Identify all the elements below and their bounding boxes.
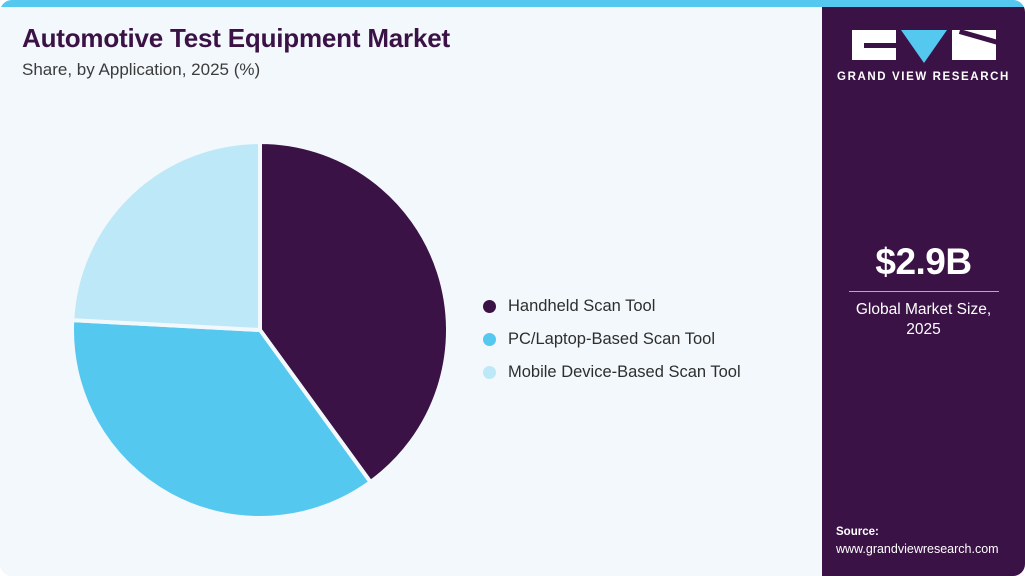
legend-swatch-icon	[483, 366, 496, 379]
pie-slice[interactable]	[72, 142, 260, 330]
top-accent-bar	[0, 0, 1025, 7]
chart-legend: Handheld Scan Tool PC/Laptop-Based Scan …	[483, 290, 813, 389]
legend-item-mobile-device-based-scan-tool[interactable]: Mobile Device-Based Scan Tool	[483, 356, 813, 389]
stat-value: $2.9B	[822, 243, 1025, 282]
legend-swatch-icon	[483, 300, 496, 313]
infographic-card: Automotive Test Equipment Market Share, …	[0, 0, 1025, 576]
brand-sidebar: GRAND VIEW RESEARCH $2.9B Global Market …	[822, 7, 1025, 576]
legend-item-pc-laptop-based-scan-tool[interactable]: PC/Laptop-Based Scan Tool	[483, 323, 813, 356]
logo-marks	[822, 30, 1025, 62]
legend-item-label: Mobile Device-Based Scan Tool	[508, 363, 741, 382]
source-label: Source:	[836, 524, 1025, 540]
brand-logo: GRAND VIEW RESEARCH	[822, 30, 1025, 83]
page-title: Automotive Test Equipment Market	[22, 24, 450, 53]
pie-chart	[71, 141, 449, 519]
legend-item-handheld-scan-tool[interactable]: Handheld Scan Tool	[483, 290, 813, 323]
page-subtitle: Share, by Application, 2025 (%)	[22, 60, 450, 80]
stat-caption: Global Market Size, 2025	[822, 300, 1025, 340]
legend-item-label: Handheld Scan Tool	[508, 297, 655, 316]
source-url[interactable]: www.grandviewresearch.com	[836, 541, 1025, 559]
market-size-stat: $2.9B Global Market Size, 2025	[822, 243, 1025, 340]
title-block: Automotive Test Equipment Market Share, …	[22, 24, 450, 80]
legend-swatch-icon	[483, 333, 496, 346]
pie-chart-svg	[71, 141, 449, 519]
source-block: Source: www.grandviewresearch.com	[836, 524, 1025, 558]
pie-slice-group	[72, 142, 448, 518]
legend-item-label: PC/Laptop-Based Scan Tool	[508, 330, 715, 349]
logo-letter-g-icon	[852, 30, 896, 60]
chart-panel: Automotive Test Equipment Market Share, …	[0, 7, 822, 576]
logo-letter-v-triangle-icon	[901, 30, 947, 63]
logo-wordmark: GRAND VIEW RESEARCH	[822, 71, 1025, 83]
stat-divider	[849, 291, 999, 292]
logo-letter-r-icon	[952, 30, 996, 60]
